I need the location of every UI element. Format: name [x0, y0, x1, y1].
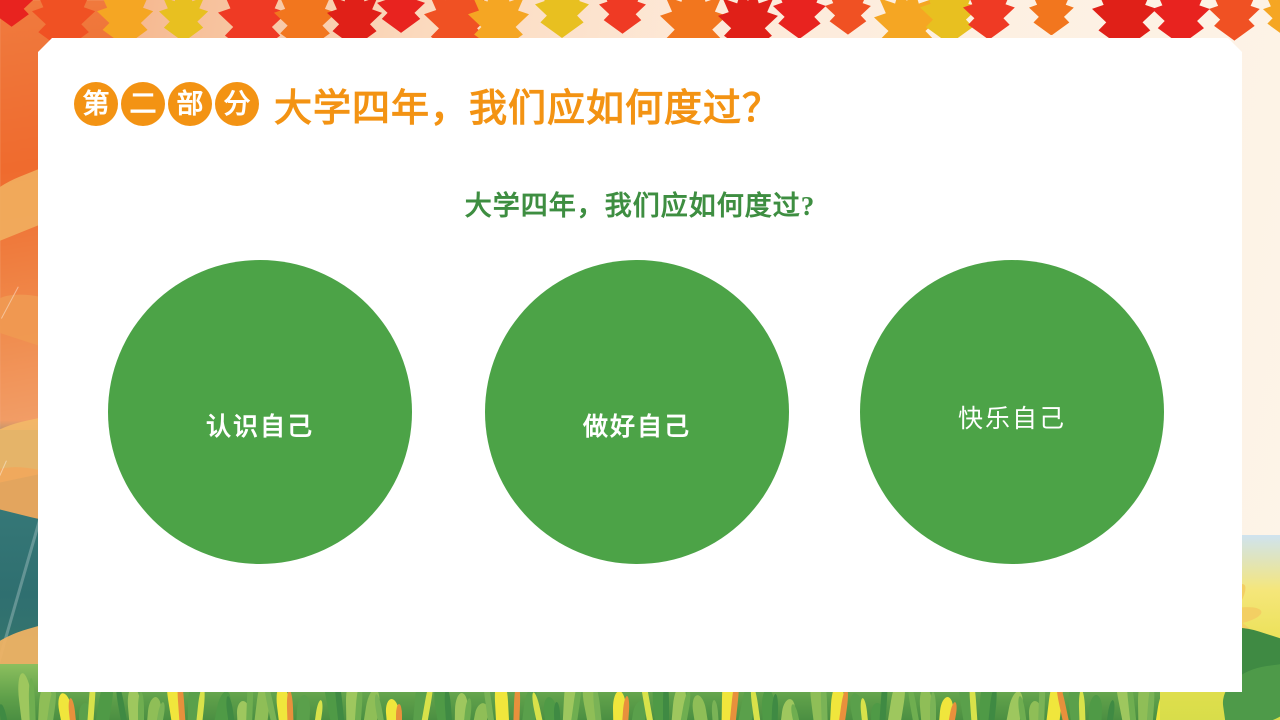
grass-blade-icon	[314, 700, 324, 720]
maple-leaf-icon	[0, 0, 33, 27]
grass-blade-icon	[286, 690, 293, 720]
grass-blade-icon	[554, 702, 561, 720]
grass-blade-icon	[1106, 700, 1116, 720]
maple-leaf-icon	[1209, 0, 1260, 41]
maple-leaf-icon	[159, 0, 208, 42]
maple-leaf-icon	[660, 0, 727, 44]
maple-leaf-icon	[773, 0, 826, 39]
circle-item-2[interactable]: 做好自己	[485, 260, 789, 564]
maple-leaf-icon	[377, 0, 425, 33]
circle-item-1-label: 认识自己	[206, 407, 314, 443]
maple-leaf-icon	[32, 0, 95, 44]
content-card: 第 二 部 分 大学四年，我们应如何度过？ 大学四年，我们应如何度过? 认识自己…	[38, 38, 1242, 692]
grass-blade-icon	[711, 700, 719, 720]
section-badge-2: 二	[121, 82, 165, 126]
section-badge-3: 部	[168, 82, 212, 126]
maple-leaf-icon	[1263, 0, 1280, 36]
subtitle: 大学四年，我们应如何度过?	[38, 184, 1242, 223]
maple-leaf-icon	[218, 0, 287, 44]
grass-blade-icon	[296, 695, 311, 720]
maple-leaf-icon	[599, 0, 646, 34]
grass-blade-icon	[444, 688, 453, 720]
circle-item-1[interactable]: 认识自己	[108, 260, 412, 564]
section-badge-1: 第	[74, 82, 118, 126]
circle-item-3[interactable]: 快乐自己	[860, 260, 1164, 564]
maple-leaf-icon	[327, 0, 382, 44]
page-title: 大学四年，我们应如何度过？	[274, 77, 781, 132]
circle-item-3-label: 快乐自己	[958, 399, 1066, 435]
grass-blade-icon	[68, 698, 77, 720]
maple-leaf-icon	[825, 0, 871, 35]
circle-row: 认识自己 做好自己 快乐自己	[38, 244, 1242, 574]
section-title: 第 二 部 分 大学四年，我们应如何度过？	[74, 76, 781, 132]
grass-blade-icon	[0, 704, 8, 720]
maple-leaf-icon	[1152, 0, 1210, 44]
grass-blade-icon	[1088, 695, 1103, 720]
grass-blade-icon	[860, 698, 869, 720]
grass-blade-icon	[138, 692, 144, 720]
grass-blade-icon	[396, 704, 402, 720]
slide: 第 二 部 分 大学四年，我们应如何度过？ 大学四年，我们应如何度过? 认识自己…	[0, 0, 1280, 720]
maple-leaf-icon	[718, 0, 778, 44]
maple-leaf-icon	[963, 0, 1015, 40]
grass-blade-icon	[1078, 690, 1085, 720]
maple-leaf-icon	[535, 0, 589, 38]
section-badge-4: 分	[215, 82, 259, 126]
grass-blade-icon	[691, 694, 709, 720]
maple-leaf-icon	[1029, 0, 1074, 35]
maple-leaf-icon	[1092, 0, 1157, 44]
section-badge-group: 第 二 部 分	[74, 82, 262, 126]
maple-leaf-icon	[97, 0, 153, 44]
grass-blade-icon	[28, 678, 36, 720]
grass-blade-icon	[771, 694, 778, 720]
circle-item-2-label: 做好自己	[583, 407, 691, 443]
grass-blade-icon	[930, 692, 936, 720]
top-maple-garland	[0, 0, 1280, 44]
maple-leaf-icon	[274, 0, 336, 44]
